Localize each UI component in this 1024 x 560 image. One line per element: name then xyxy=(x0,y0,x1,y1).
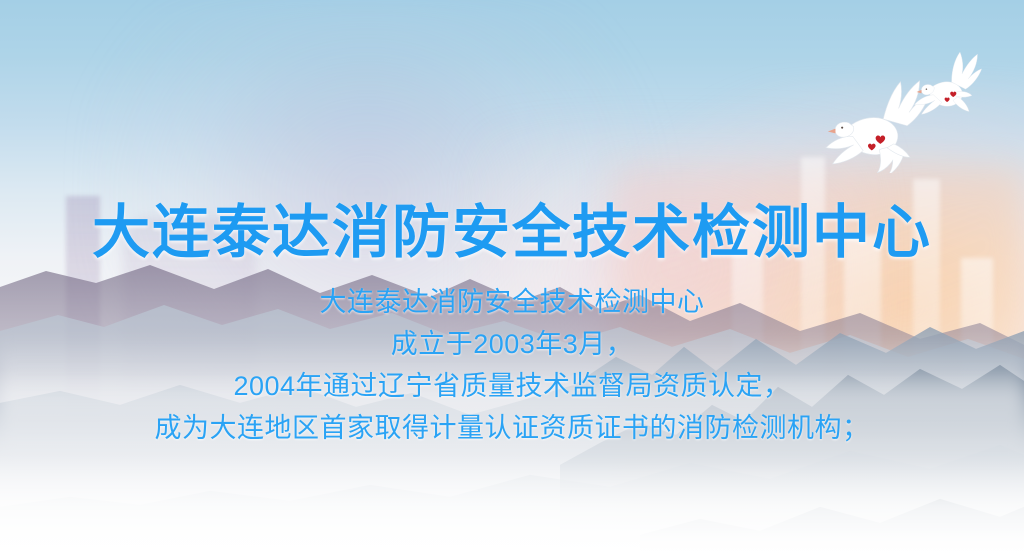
description-line-3: 2004年通过辽宁省质量技术监督局资质认定， xyxy=(0,365,1024,407)
description-block: 大连泰达消防安全技术检测中心 成立于2003年3月， 2004年通过辽宁省质量技… xyxy=(0,281,1024,449)
content-area: 大连泰达消防安全技术检测中心 大连泰达消防安全技术检测中心 成立于2003年3月… xyxy=(0,0,1024,560)
promo-banner: 大连泰达消防安全技术检测中心 大连泰达消防安全技术检测中心 成立于2003年3月… xyxy=(0,0,1024,560)
description-line-4: 成为大连地区首家取得计量认证资质证书的消防检测机构； xyxy=(0,407,1024,449)
description-line-1: 大连泰达消防安全技术检测中心 xyxy=(0,281,1024,323)
page-title: 大连泰达消防安全技术检测中心 xyxy=(0,203,1024,264)
description-line-2: 成立于2003年3月， xyxy=(0,323,1024,365)
